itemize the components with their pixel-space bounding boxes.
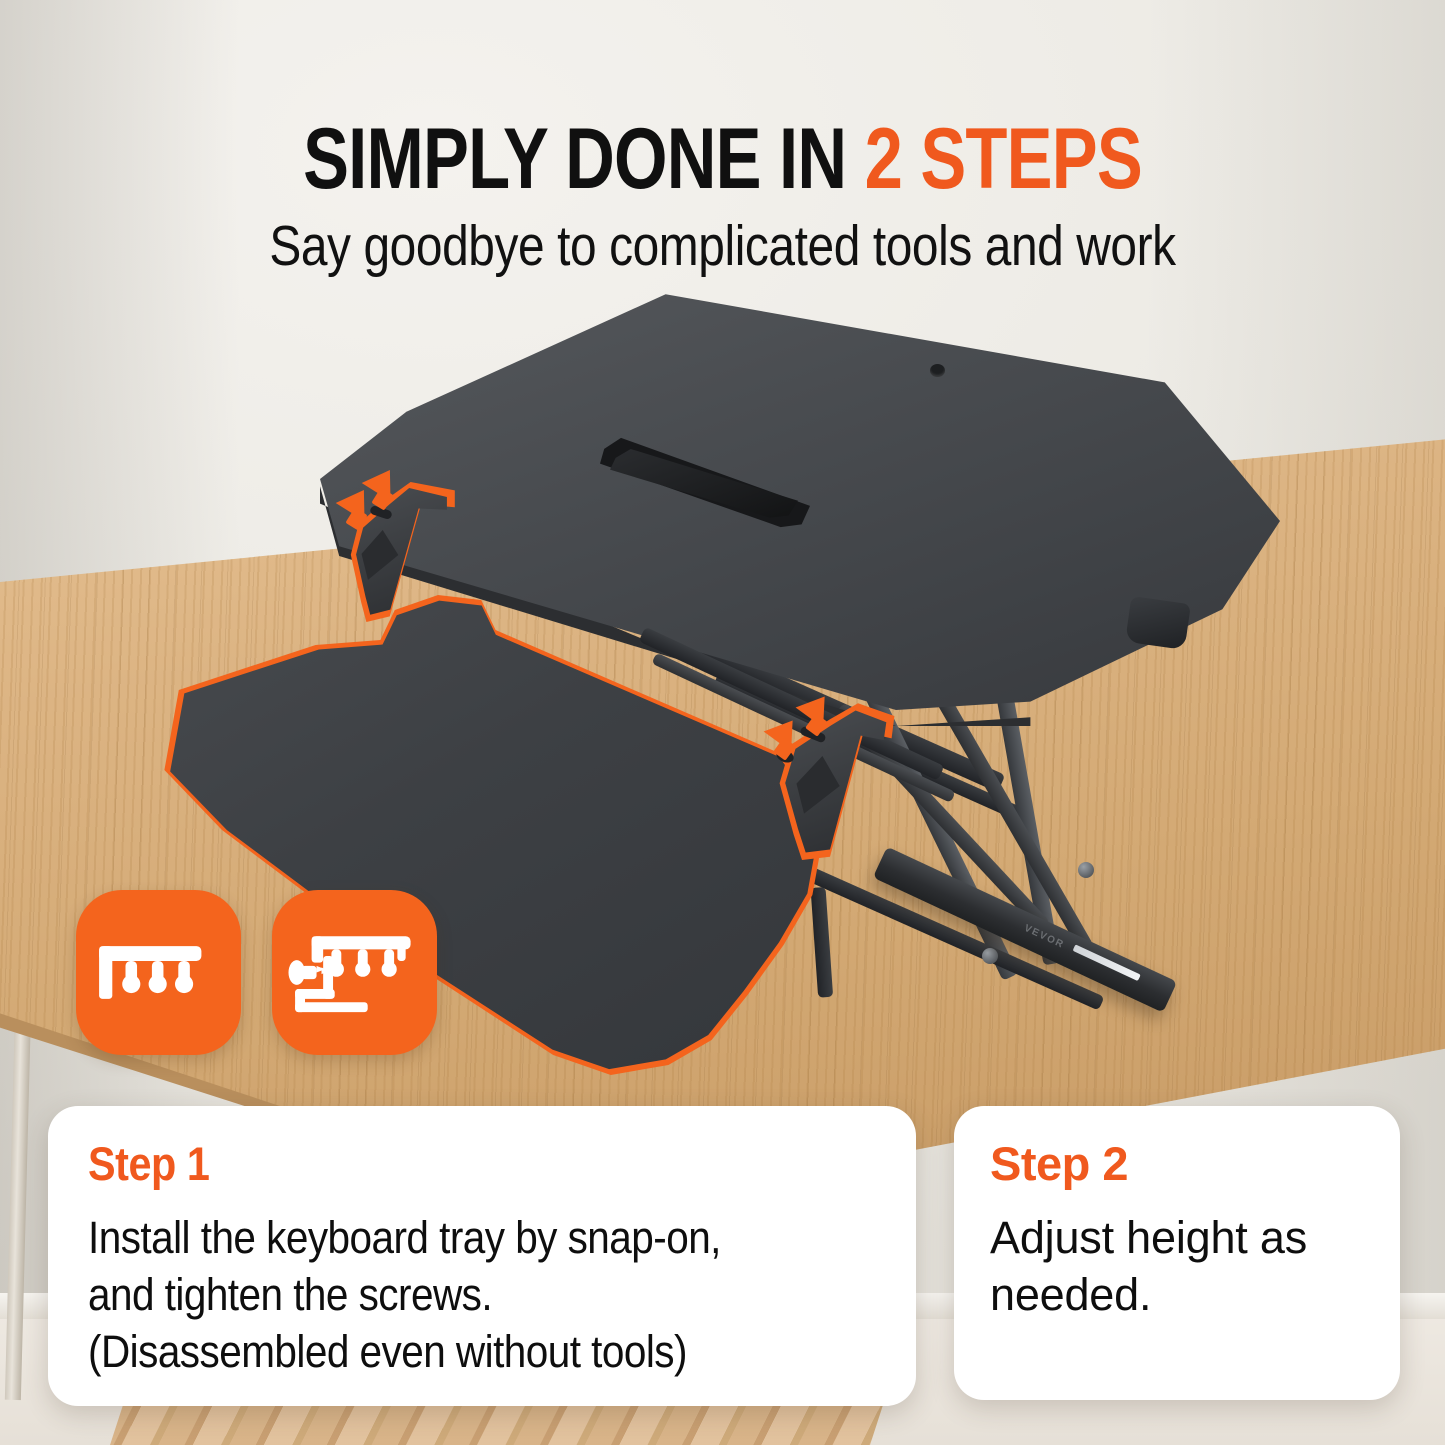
page-title: SIMPLY DONE IN 2 STEPS [145, 116, 1301, 202]
step-1-body: Install the keyboard tray by snap-on, an… [88, 1209, 797, 1380]
pivot-bolt-upper [1078, 862, 1094, 878]
step-1-title: Step 1 [88, 1140, 781, 1187]
vevor-brand-mark: VEVOR [1022, 923, 1066, 951]
page-subtitle: Say goodbye to complicated tools and wor… [116, 218, 1330, 275]
headline-accent-text: 2 STEPS [865, 111, 1142, 207]
step-2-title: Step 2 [990, 1140, 1364, 1187]
screw-tighten-glyph [272, 890, 437, 1055]
headline-black-text: SIMPLY DONE IN [303, 111, 864, 207]
cable-grommet-hole [930, 364, 945, 377]
step-2-body: Adjust height as needed. [990, 1209, 1364, 1323]
snap-on-bracket-glyph [76, 890, 241, 1055]
height-adjust-handle[interactable] [1125, 596, 1191, 650]
screw-tighten-icon [272, 890, 437, 1055]
snap-on-bracket-icon [76, 890, 241, 1055]
step-card-1: Step 1 Install the keyboard tray by snap… [48, 1106, 916, 1406]
infographic-stage: VEVOR SIMPLY DONE IN 2 STEPS Say goodbye… [0, 0, 1445, 1445]
pivot-bolt-lower [982, 948, 998, 964]
step-card-2: Step 2 Adjust height as needed. [954, 1106, 1400, 1400]
